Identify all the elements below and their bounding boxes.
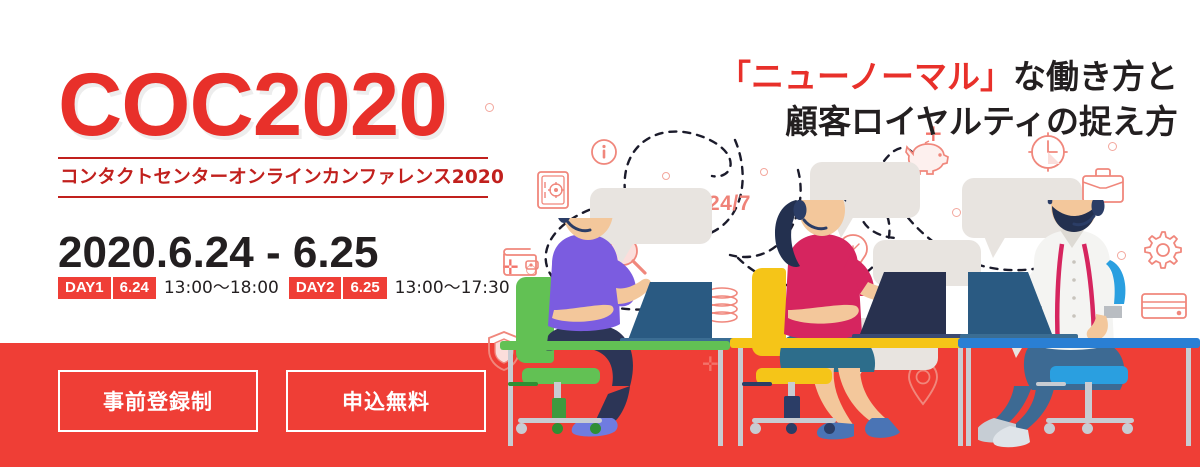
day2-date-badge: 6.25 — [343, 277, 386, 299]
session-times: DAY1 6.24 13:00〜18:00 DAY2 6.25 13:00〜17… — [58, 277, 510, 299]
desk-top — [730, 338, 970, 348]
chair-lever — [1036, 382, 1066, 386]
day1-date-badge: 6.24 — [113, 277, 156, 299]
chair-lever — [742, 382, 772, 386]
left-content-column: COC2020 コンタクトセンターオンラインカンファレンス2020 2020.6… — [0, 0, 500, 467]
headline-line-1-rest: な働き方と — [1013, 57, 1178, 96]
chair-caster — [786, 423, 797, 434]
headline-emphasis: 「ニューノーマル」 — [718, 57, 1013, 96]
chair-caster — [516, 423, 527, 434]
day1-badge: DAY1 — [58, 277, 111, 299]
day2-badge: DAY2 — [289, 277, 342, 299]
desk-top — [500, 341, 730, 350]
chair-caster — [750, 423, 761, 434]
pre-registration-button[interactable]: 事前登録制 — [58, 370, 258, 432]
coc2020-banner: ✛ ✛ ✛ ✛ — [0, 0, 1200, 467]
chair-base — [1046, 418, 1134, 423]
laptop-screen — [628, 282, 712, 340]
headline-line-1: 「ニューノーマル」な働き方と — [718, 55, 1178, 100]
chair-caster — [1044, 423, 1055, 434]
headline: 「ニューノーマル」な働き方と 顧客ロイヤルティの捉え方 — [718, 55, 1178, 144]
chair-caster — [1122, 423, 1133, 434]
chair-post-green — [552, 398, 566, 420]
info-icon — [590, 138, 618, 166]
safe-icon — [536, 170, 570, 210]
chair-lever — [508, 382, 538, 386]
event-logo: COC2020 — [58, 62, 488, 147]
desk-leg — [966, 348, 971, 446]
chair-caster — [1082, 423, 1093, 434]
chair-base — [752, 418, 836, 423]
chair-post — [1085, 382, 1092, 418]
desk-leg — [958, 348, 963, 446]
cta-row: 事前登録制 申込無料 — [58, 370, 486, 432]
chair-caster — [824, 423, 835, 434]
desk-leg — [718, 350, 723, 446]
desk-leg — [738, 348, 743, 446]
chair-post-dark — [784, 396, 800, 420]
desk-leg — [1186, 348, 1191, 446]
headline-line-2: 顧客ロイヤルティの捉え方 — [718, 100, 1178, 145]
laptop-screen — [860, 272, 946, 334]
day2-time: 13:00〜17:30 — [395, 280, 510, 297]
desk-top — [958, 338, 1200, 348]
event-logo-block: COC2020 コンタクトセンターオンラインカンファレンス2020 — [58, 62, 488, 198]
chair-caster — [552, 423, 563, 434]
event-date-range: 2020.6.24 - 6.25 — [58, 228, 378, 278]
day1-time: 13:00〜18:00 — [164, 280, 279, 297]
chair-caster — [590, 423, 601, 434]
laptop-screen — [968, 272, 1052, 334]
event-subtitle: コンタクトセンターオンラインカンファレンス2020 — [58, 159, 488, 192]
chair-base — [518, 418, 602, 423]
free-entry-button[interactable]: 申込無料 — [286, 370, 486, 432]
logo-rule-bottom — [58, 196, 488, 198]
desk-leg — [508, 350, 513, 446]
